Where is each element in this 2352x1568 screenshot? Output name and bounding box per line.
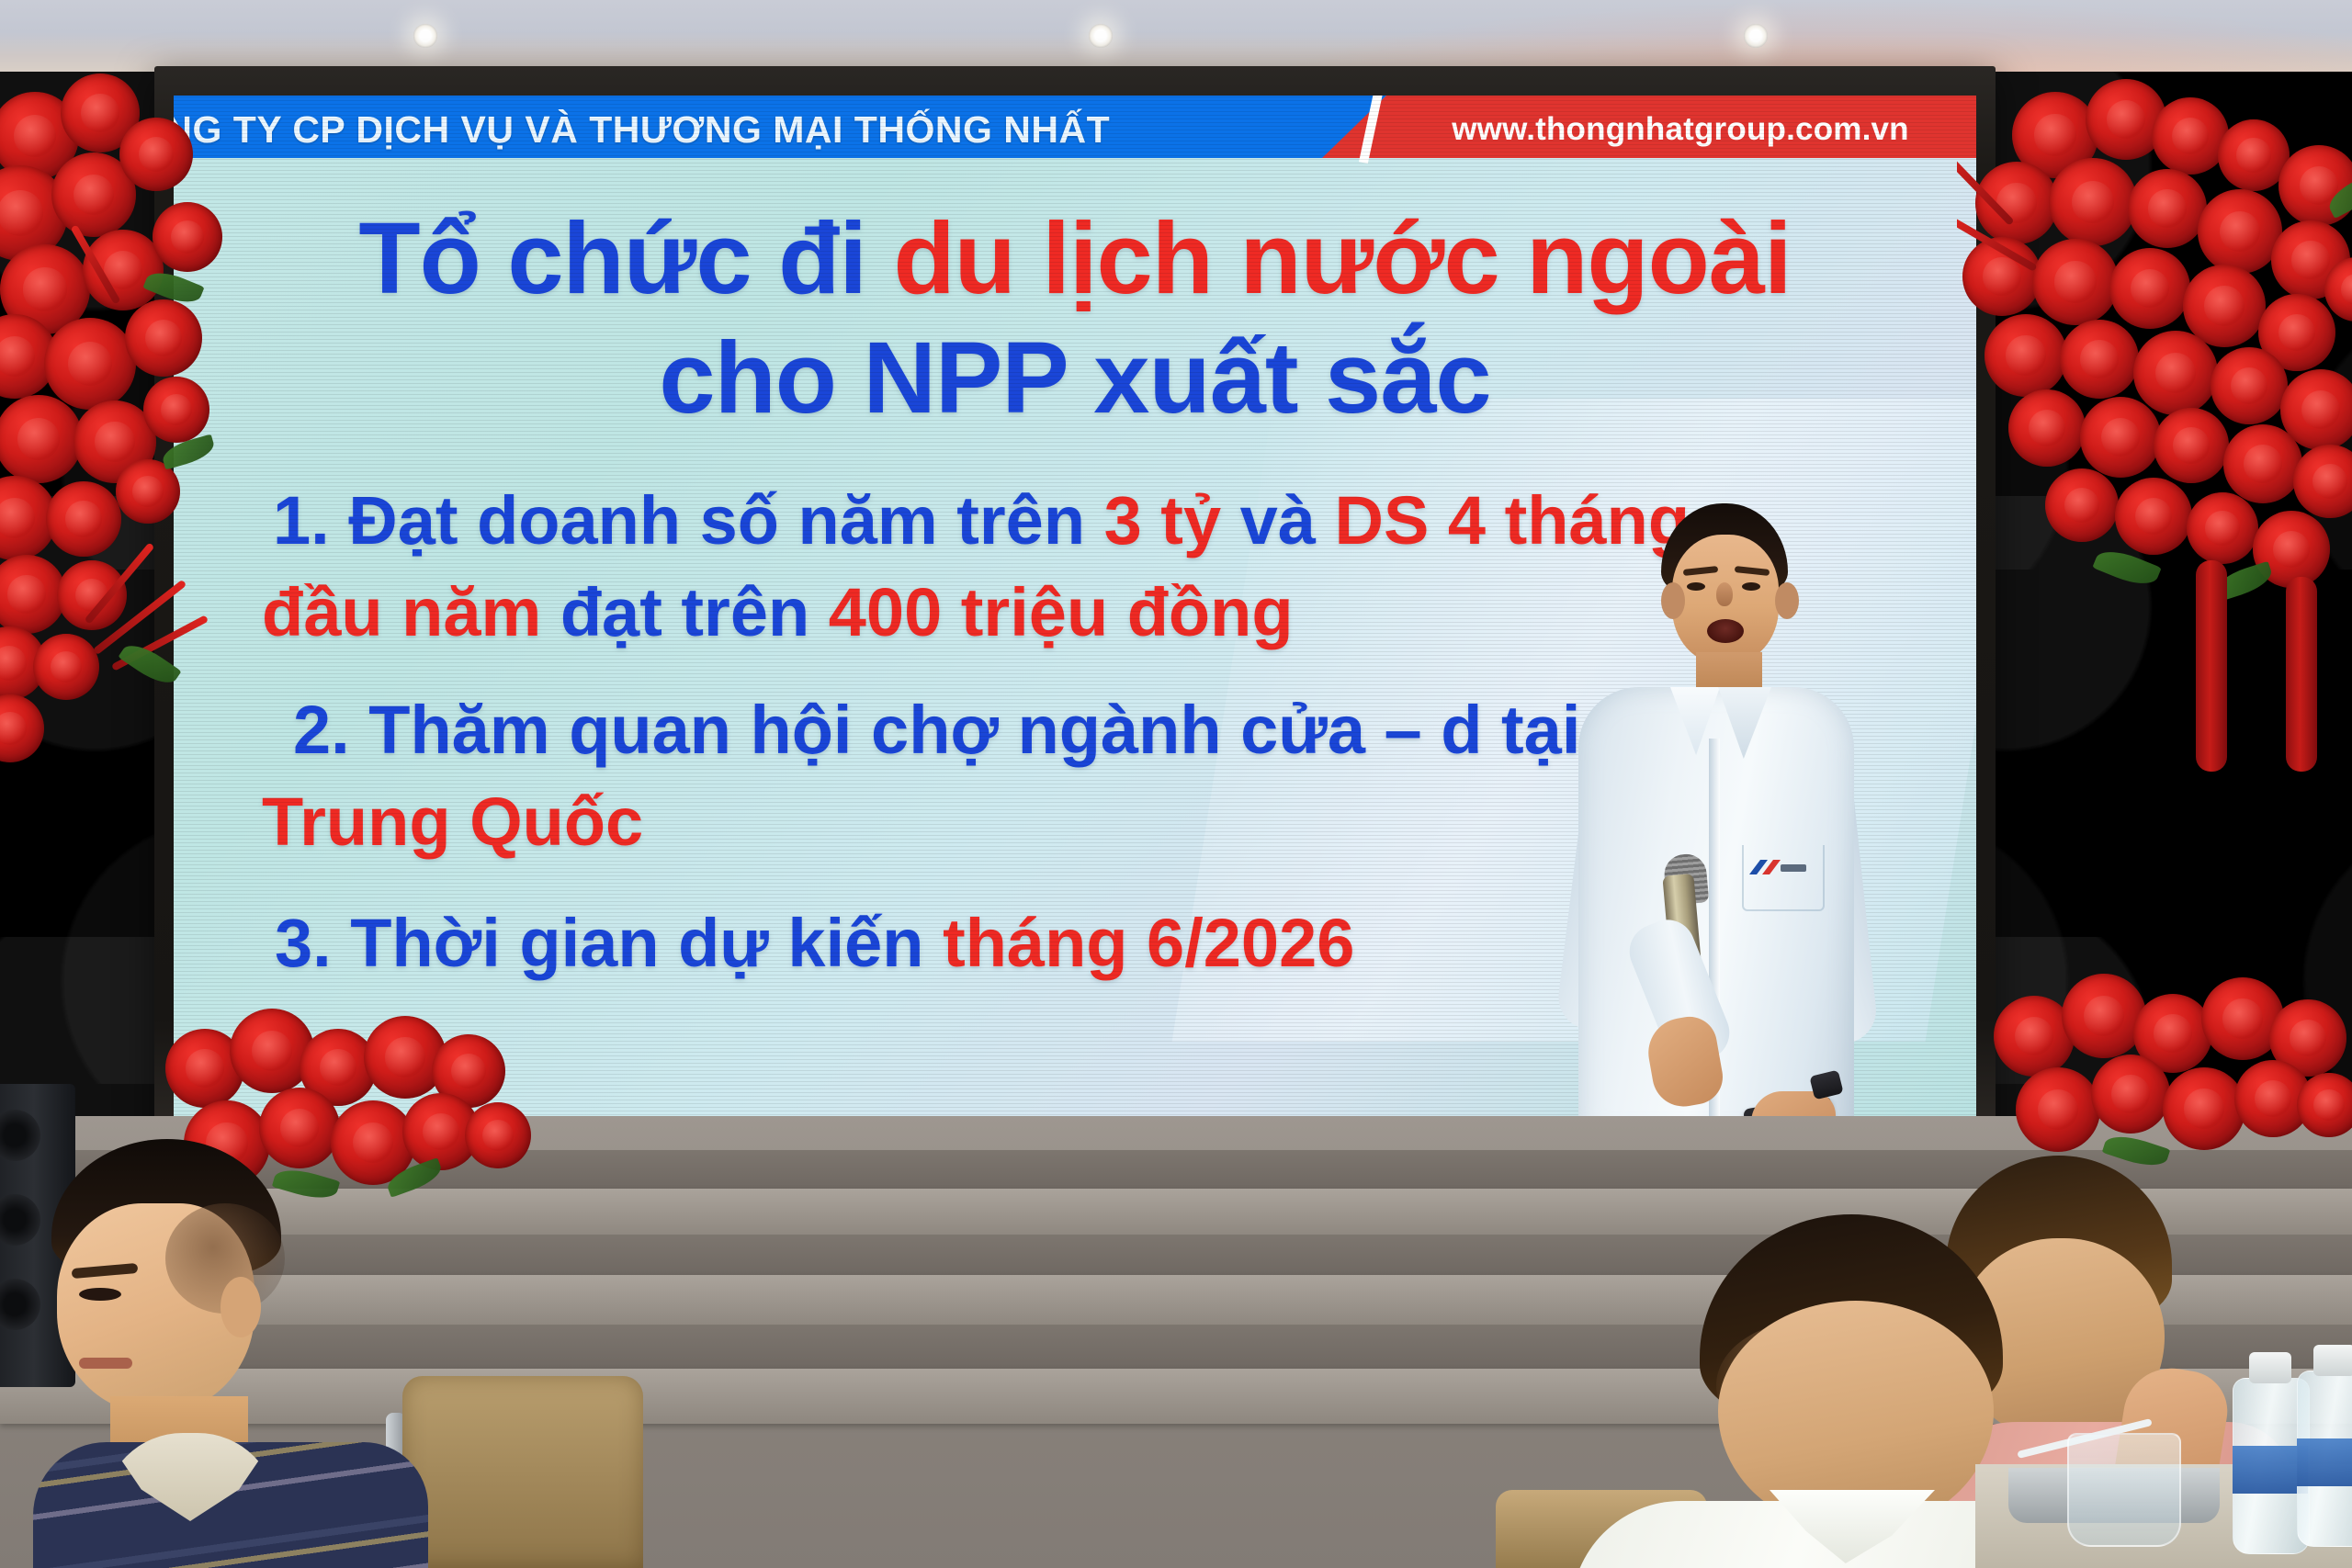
bullet1-l2-seg-b: đạt trên <box>560 574 829 650</box>
rose <box>2049 158 2137 246</box>
presenter-mouth <box>1707 619 1744 643</box>
rose <box>125 299 202 377</box>
rose <box>2223 424 2302 503</box>
rose <box>2115 478 2192 555</box>
floral-drape <box>2196 560 2227 772</box>
bottle-label-2 <box>2297 1438 2352 1486</box>
rose <box>119 118 193 191</box>
rose <box>2080 397 2161 478</box>
rose <box>2128 169 2207 248</box>
slide-header-banner: ÔNG TY CP DỊCH VỤ VÀ THƯƠNG MẠI THỐNG NH… <box>174 96 1976 158</box>
rose <box>2198 189 2282 274</box>
slide-title-line-1: Tổ chức đi du lịch nước ngoài <box>174 200 1976 317</box>
rose <box>153 202 222 272</box>
rose <box>2293 445 2352 518</box>
rose <box>2187 492 2258 564</box>
drinking-glass <box>2067 1433 2181 1547</box>
bullet1-l2-seg-c: 400 triệu đồng <box>829 574 1294 650</box>
bullet1-seg-a: 1. Đạt doanh số năm trên <box>273 482 1104 558</box>
rose <box>2062 974 2146 1058</box>
rose <box>2045 468 2119 542</box>
rose <box>0 694 44 762</box>
presenter-eye-left <box>1687 582 1705 591</box>
ceiling-downlight-1 <box>413 24 437 48</box>
ceiling-warm-glow <box>1268 0 2352 72</box>
presenter-ear <box>1661 582 1685 619</box>
audience-left-mouth <box>79 1358 132 1369</box>
rose <box>44 318 136 410</box>
bottle-cap-1 <box>2249 1352 2291 1383</box>
rose <box>2211 347 2288 424</box>
presenter-eye-right <box>1742 582 1760 591</box>
ceiling-downlight-2 <box>1089 24 1113 48</box>
presenter-shirt-pocket <box>1742 845 1825 911</box>
bullet-3-line-1: 3. Thời gian dự kiến tháng 6/2026 <box>275 904 1354 982</box>
presentation-photo-scene: ÔNG TY CP DỊCH VỤ VÀ THƯƠNG MẠI THỐNG NH… <box>0 0 2352 1568</box>
rose <box>2152 97 2229 175</box>
rose <box>2109 248 2190 329</box>
bullet1-seg-c: và <box>1221 482 1334 558</box>
bullet1-seg-b: 3 tỷ <box>1104 482 1222 558</box>
rose <box>46 481 121 557</box>
bullet-1-line-1: 1. Đạt doanh số năm trên 3 tỷ và DS 4 th… <box>273 481 1690 559</box>
rose <box>143 377 209 443</box>
company-website-text: www.thongnhatgroup.com.vn <box>1396 111 1965 148</box>
rose <box>2091 1055 2170 1134</box>
audience-left-ear <box>220 1277 261 1337</box>
floral-arrangement-right <box>1957 73 2352 772</box>
bullet-2-line-1: 2. Thăm quan hội chợ ngành cửa – d tại <box>293 691 1580 769</box>
rose <box>2154 408 2229 483</box>
ceiling-downlight-3 <box>1744 24 1768 48</box>
rose <box>0 395 83 483</box>
title-line1-red-part: du lịch nước ngoài <box>893 202 1791 315</box>
rose <box>2133 331 2218 415</box>
company-name-text: ÔNG TY CP DỊCH VỤ VÀ THƯƠNG MẠI THỐNG NH… <box>174 108 1329 152</box>
slide-title-line-2: cho NPP xuất sắc <box>174 320 1976 436</box>
presenter-ear-right <box>1775 582 1799 619</box>
rose <box>2297 1073 2352 1137</box>
audience-member-left <box>0 1130 478 1568</box>
presenter-nose <box>1716 582 1733 606</box>
rose <box>2060 320 2139 399</box>
bottle-cap-2 <box>2313 1345 2352 1376</box>
bullet3-seg-a: 3. Thời gian dự kiến <box>275 905 943 981</box>
title-line1-blue-part: Tổ chức đi <box>358 202 893 315</box>
audience-left-eye <box>79 1288 121 1301</box>
company-logo-icon <box>1749 856 1806 878</box>
rose <box>116 459 180 524</box>
floral-drape <box>2286 577 2317 772</box>
rose <box>33 634 99 700</box>
bullet-1-line-2: đầu năm đạt trên 400 triệu đồng <box>262 573 1294 651</box>
bullet3-seg-b: tháng 6/2026 <box>943 905 1354 981</box>
rose <box>2008 389 2086 467</box>
rose <box>2032 239 2119 325</box>
rose <box>1984 314 2067 397</box>
